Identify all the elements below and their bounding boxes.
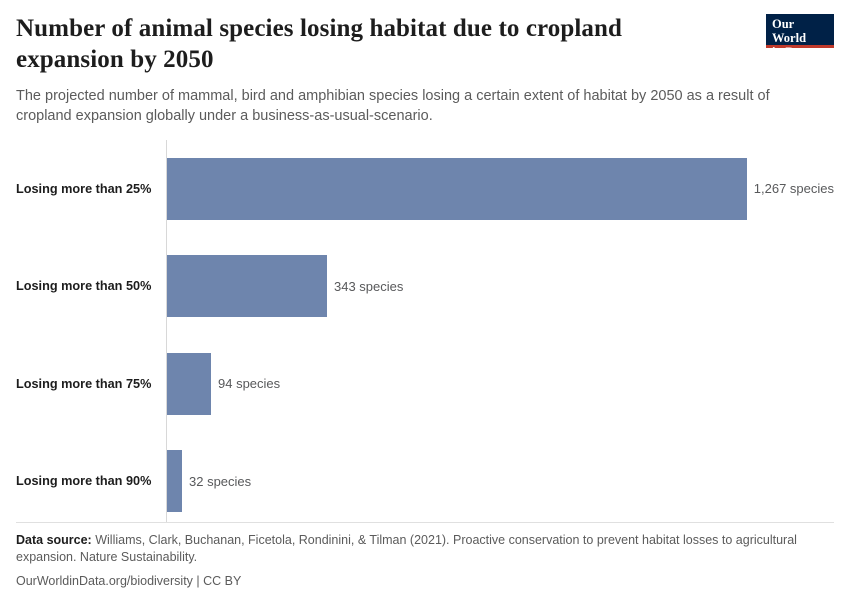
bar-row[interactable]: Losing more than 75% 94 species: [16, 335, 834, 433]
bar-container: 343 species: [167, 255, 834, 317]
license-link[interactable]: OurWorldinData.org/biodiversity | CC BY: [16, 574, 834, 588]
bar-segment[interactable]: [167, 255, 327, 317]
bar-container: 1,267 species: [167, 158, 834, 220]
logo-line-1: Our World: [772, 17, 806, 45]
bar-value-label: 94 species: [218, 376, 280, 391]
bar-category-label: Losing more than 50%: [16, 279, 160, 293]
data-source-text: Williams, Clark, Buchanan, Ficetola, Ron…: [16, 533, 797, 565]
chart-footer: Data source: Williams, Clark, Buchanan, …: [16, 522, 834, 589]
chart-subtitle: The projected number of mammal, bird and…: [16, 86, 791, 126]
footer-divider: [16, 522, 834, 523]
bar-value-label: 343 species: [334, 279, 403, 294]
bar-segment[interactable]: [167, 158, 747, 220]
bar-value-label: 1,267 species: [754, 181, 834, 196]
page-title: Number of animal species losing habitat …: [16, 14, 731, 75]
bar-container: 94 species: [167, 353, 834, 415]
bar-row[interactable]: Losing more than 50% 343 species: [16, 238, 834, 336]
logo-line-2: in Data: [772, 45, 829, 59]
bar-category-label: Losing more than 90%: [16, 474, 160, 488]
bar-category-label: Losing more than 25%: [16, 182, 160, 196]
chart-page: Number of animal species losing habitat …: [0, 0, 850, 600]
bar-category-label: Losing more than 75%: [16, 377, 160, 391]
data-source-label: Data source:: [16, 533, 92, 547]
bar-row[interactable]: Losing more than 90% 32 species: [16, 433, 834, 531]
bar-container: 32 species: [167, 450, 834, 512]
bar-segment[interactable]: [167, 450, 182, 512]
bar-segment[interactable]: [167, 353, 211, 415]
bar-row[interactable]: Losing more than 25% 1,267 species: [16, 140, 834, 238]
bar-chart: Losing more than 25% 1,267 species Losin…: [16, 140, 834, 530]
chart-header: Number of animal species losing habitat …: [16, 0, 834, 126]
data-source: Data source: Williams, Clark, Buchanan, …: [16, 532, 816, 568]
our-world-in-data-logo[interactable]: Our World in Data: [766, 14, 834, 48]
bar-value-label: 32 species: [189, 474, 251, 489]
